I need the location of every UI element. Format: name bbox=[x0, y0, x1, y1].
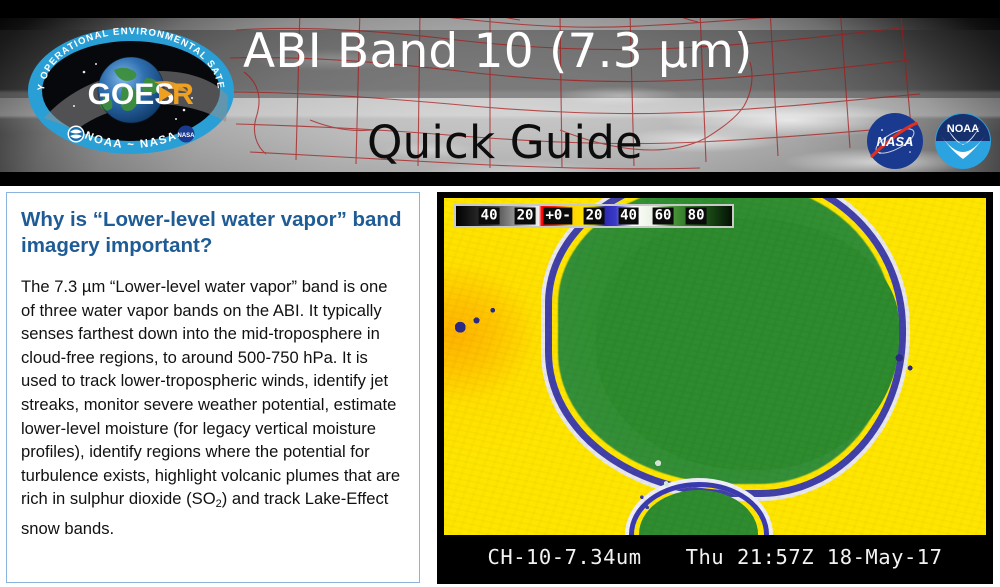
noaa-logo: NOAA bbox=[934, 112, 992, 170]
color-scale-bar: 4020+0-20406080 bbox=[454, 204, 734, 228]
color-scale-tick-label: +0- bbox=[543, 208, 572, 225]
satellite-image-caption: CH-10-7.34um Thu 21:57Z 18-May-17 bbox=[444, 535, 986, 579]
color-scale-tick-label: 20 bbox=[584, 208, 605, 225]
satellite-image: 4020+0-20406080 bbox=[444, 198, 986, 538]
color-scale-tick-label: 40 bbox=[618, 208, 639, 225]
panel-body-text-part1: The 7.3 µm “Lower-level water vapor” ban… bbox=[21, 277, 400, 508]
water-vapor-scene bbox=[444, 198, 986, 538]
satellite-image-panel: 4020+0-20406080 CH-10-7.34um Thu 21:57Z … bbox=[437, 192, 993, 584]
page-subtitle: Quick Guide bbox=[367, 118, 643, 168]
page-title: ABI Band 10 (7.3 µm) bbox=[243, 26, 753, 78]
panel-body: The 7.3 µm “Lower-level water vapor” ban… bbox=[21, 275, 405, 541]
color-scale-tick-label: 20 bbox=[515, 208, 536, 225]
caption-channel: CH-10-7.34um bbox=[488, 545, 642, 569]
goes-r-wordmark-suffix: R bbox=[172, 78, 194, 111]
color-scale-tick-label: 40 bbox=[479, 208, 500, 225]
nasa-logo-label: NASA bbox=[877, 134, 914, 149]
svg-text:NASA: NASA bbox=[177, 133, 195, 139]
color-scale-tick-label: 60 bbox=[653, 208, 674, 225]
quick-guide-page: GOES R GEOSTATIONARY OPERATIONAL ENVIRON… bbox=[0, 0, 1000, 587]
noaa-logo-label: NOAA bbox=[947, 123, 979, 135]
nasa-logo: NASA bbox=[866, 112, 924, 170]
color-scale-tick-label: 80 bbox=[686, 208, 707, 225]
goes-r-logo: GOES R GEOSTATIONARY OPERATIONAL ENVIRON… bbox=[26, 26, 236, 156]
noaa-seal-icon bbox=[68, 126, 85, 143]
panel-heading: Why is “Lower-level water vapor” band im… bbox=[21, 207, 405, 259]
color-scale-labels: 4020+0-20406080 bbox=[456, 206, 732, 226]
page-header: GOES R GEOSTATIONARY OPERATIONAL ENVIRON… bbox=[0, 0, 1000, 186]
header-top-black-bar bbox=[0, 0, 1000, 18]
why-important-panel: Why is “Lower-level water vapor” band im… bbox=[6, 192, 420, 583]
header-bottom-black-bar bbox=[0, 172, 1000, 186]
caption-timestamp: Thu 21:57Z 18-May-17 bbox=[686, 545, 943, 569]
agency-logo-group: NASA NOAA bbox=[866, 112, 992, 170]
scene-texture-overlay bbox=[444, 198, 986, 538]
